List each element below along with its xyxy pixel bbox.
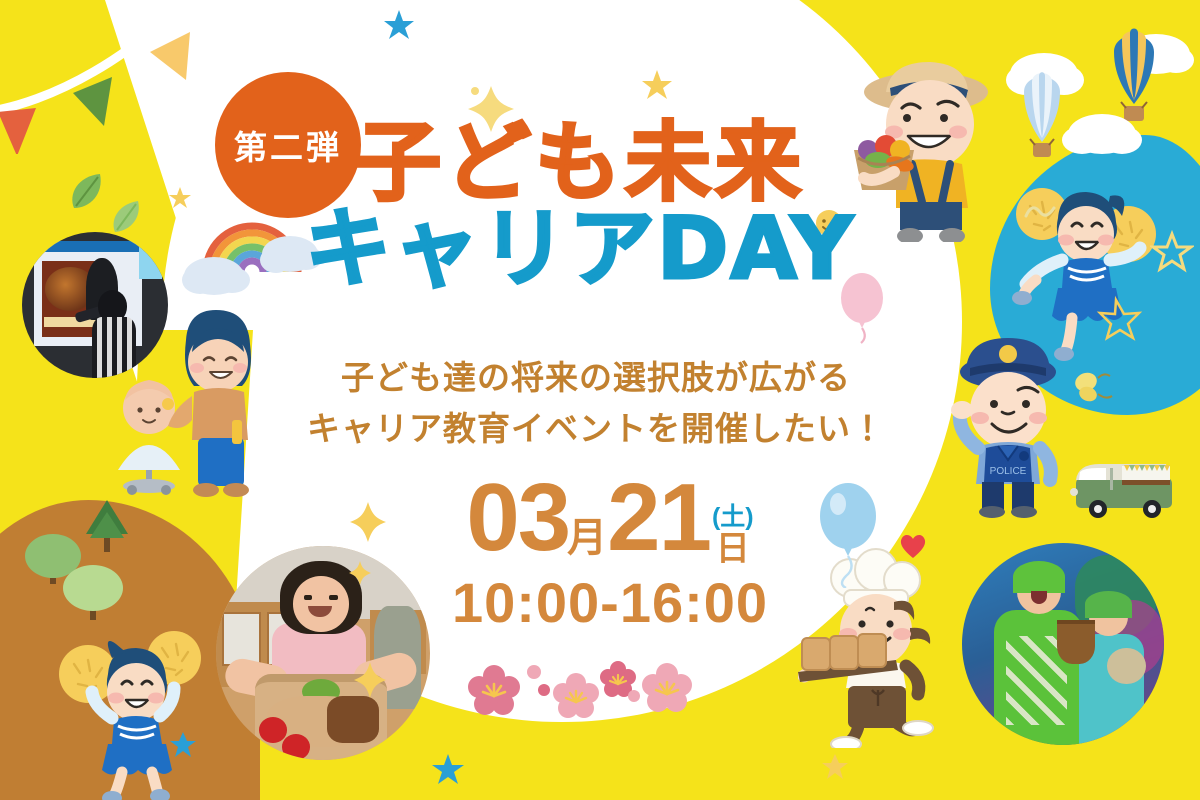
star-icon [1150, 230, 1194, 274]
star-icon [382, 8, 416, 42]
star-icon [168, 730, 198, 760]
butterfly-icon [1072, 368, 1118, 406]
time-range: 10:00-16:00 [350, 570, 870, 635]
poster-canvas: POLICE [0, 0, 1200, 800]
heart-icon [898, 532, 928, 560]
police-officer-character-icon: POLICE [936, 328, 1076, 518]
subtitle-line-1: 子ども達の将来の選択肢が広がる [290, 352, 902, 403]
cheerleader-character-left-icon [56, 630, 226, 800]
title-line-1: 子ども未来 [300, 120, 860, 208]
day-number: 21 [607, 470, 710, 566]
svg-text:POLICE: POLICE [990, 466, 1027, 477]
plum-blossom-row-icon [462, 652, 694, 726]
subtitle-block: 子ども達の将来の選択肢が広がる キャリア教育イベントを開催したい！ [290, 352, 902, 454]
title-block: 子ども未来 キャリアDAY [300, 120, 860, 294]
sparkle-icon [352, 660, 388, 700]
date-line: 03 月 21 (土) 日 [350, 470, 870, 566]
leaf-icon [108, 196, 146, 236]
star-icon [168, 186, 192, 210]
day-of-week: (土) [712, 505, 754, 530]
leaf-icon [66, 168, 110, 214]
date-block: 03 月 21 (土) 日 10:00-16:00 [350, 470, 870, 635]
star-icon [820, 752, 850, 782]
food-truck-icon [1066, 450, 1186, 530]
day-unit: 日 [716, 532, 750, 566]
star-icon [640, 68, 674, 102]
hairdresser-character-icon [112, 300, 272, 500]
month-unit: 月 [567, 518, 607, 566]
photo-stage [962, 543, 1164, 745]
title-line-2: キャリアDAY [300, 204, 860, 294]
hot-air-balloon-icon [1006, 22, 1196, 192]
subtitle-line-2: キャリア教育イベントを開催したい！ [290, 403, 902, 454]
tree-icon [12, 498, 212, 638]
star-icon [430, 752, 466, 788]
bunting-flags-icon [0, 0, 250, 154]
squiggle-icon [1022, 196, 1062, 230]
month-number: 03 [466, 470, 569, 566]
dot-icon [470, 86, 480, 96]
farmer-character-icon [838, 52, 1028, 242]
